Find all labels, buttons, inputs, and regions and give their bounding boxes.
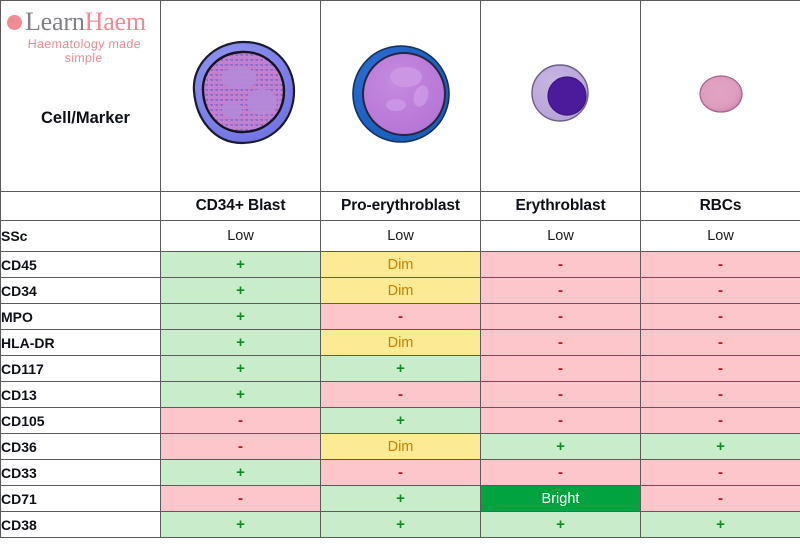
cell-cd45-erythroblast: -: [481, 252, 641, 278]
cell-cd34-cd34-blast: +: [161, 278, 321, 304]
cell-cd36-rbcs: +: [641, 434, 800, 460]
cell-cd105-cd34-blast: -: [161, 408, 321, 434]
table-row: CD38 + + + +: [1, 512, 800, 538]
cell-cd45-cd34-blast: +: [161, 252, 321, 278]
header-corner-blank: [1, 192, 161, 221]
page-title: Cell/Marker: [7, 65, 160, 186]
cell-cd38-erythroblast: +: [481, 512, 641, 538]
column-header-rbcs: RBCs: [641, 192, 800, 221]
cell-mpo-rbcs: -: [641, 304, 800, 330]
logo-and-title-cell: Learn Haem Haematology made simple Cell/…: [1, 1, 161, 192]
cell-cd71-erythroblast: Bright: [481, 486, 641, 512]
logo-tagline: Haematology made simple: [7, 37, 160, 65]
cell-image-rbcs: [641, 1, 800, 192]
row-label-cd71: CD71: [1, 486, 161, 512]
table-row: HLA-DR + Dim - -: [1, 330, 800, 356]
table-row: CD45 + Dim - -: [1, 252, 800, 278]
logo-text-haem: Haem: [85, 9, 146, 35]
cell-cd13-rbcs: -: [641, 382, 800, 408]
cell-cd34-pro-erythroblast: Dim: [321, 278, 481, 304]
cell-cd33-pro-erythroblast: -: [321, 460, 481, 486]
table-body: Learn Haem Haematology made simple Cell/…: [1, 1, 800, 538]
column-header-erythroblast: Erythroblast: [481, 192, 641, 221]
cell-cd105-pro-erythroblast: +: [321, 408, 481, 434]
table-row: CD36 - Dim + +: [1, 434, 800, 460]
cell-cd33-rbcs: -: [641, 460, 800, 486]
row-label-cd36: CD36: [1, 434, 161, 460]
cell-cd36-cd34-blast: -: [161, 434, 321, 460]
cell-image-cd34-blast: [161, 1, 321, 192]
cell-cd36-erythroblast: +: [481, 434, 641, 460]
column-header-row: CD34+ Blast Pro-erythroblast Erythroblas…: [1, 192, 800, 221]
cell-hla-dr-cd34-blast: +: [161, 330, 321, 356]
cell-hla-dr-erythroblast: -: [481, 330, 641, 356]
cell-cd38-cd34-blast: +: [161, 512, 321, 538]
table-row: MPO + - - -: [1, 304, 800, 330]
table-row: SSc Low Low Low Low: [1, 221, 800, 252]
cell-mpo-pro-erythroblast: -: [321, 304, 481, 330]
row-label-cd13: CD13: [1, 382, 161, 408]
cell-cd105-rbcs: -: [641, 408, 800, 434]
brand-dot-icon: [7, 15, 22, 30]
row-label-cd117: CD117: [1, 356, 161, 382]
cell-image-erythroblast: [481, 1, 641, 192]
cell-cd34-rbcs: -: [641, 278, 800, 304]
cell-cd13-erythroblast: -: [481, 382, 641, 408]
pro-erythroblast-cell-illustration: [342, 35, 460, 153]
cell-ssc-rbcs: Low: [641, 221, 800, 252]
row-label-cd105: CD105: [1, 408, 161, 434]
table-row: CD13 + - - -: [1, 382, 800, 408]
rbc-cell-illustration: [693, 70, 749, 118]
logo-wordmark: Learn Haem: [7, 9, 160, 35]
row-label-ssc: SSc: [1, 221, 161, 252]
cell-cd117-rbcs: -: [641, 356, 800, 382]
table-row: CD105 - + - -: [1, 408, 800, 434]
cell-cd71-pro-erythroblast: +: [321, 486, 481, 512]
cell-cd71-cd34-blast: -: [161, 486, 321, 512]
cell-hla-dr-rbcs: -: [641, 330, 800, 356]
row-label-cd34: CD34: [1, 278, 161, 304]
page-root: Learn Haem Haematology made simple Cell/…: [0, 0, 800, 551]
cell-cd36-pro-erythroblast: Dim: [321, 434, 481, 460]
cd34-blast-cell-illustration: [176, 29, 306, 159]
column-header-pro-erythroblast: Pro-erythroblast: [321, 192, 481, 221]
table-row: CD71 - + Bright -: [1, 486, 800, 512]
cell-ssc-erythroblast: Low: [481, 221, 641, 252]
cell-cd117-erythroblast: -: [481, 356, 641, 382]
table-row: CD34 + Dim - -: [1, 278, 800, 304]
erythroblast-cell-illustration: [526, 59, 596, 129]
row-label-cd33: CD33: [1, 460, 161, 486]
cell-cd13-pro-erythroblast: -: [321, 382, 481, 408]
cell-cd71-rbcs: -: [641, 486, 800, 512]
logo-text-learn: Learn: [25, 9, 85, 35]
cell-cd33-erythroblast: -: [481, 460, 641, 486]
cell-cd38-rbcs: +: [641, 512, 800, 538]
cell-cd38-pro-erythroblast: +: [321, 512, 481, 538]
table-row: CD117 + + - -: [1, 356, 800, 382]
cell-cd13-cd34-blast: +: [161, 382, 321, 408]
immunophenotype-table: Learn Haem Haematology made simple Cell/…: [0, 0, 800, 538]
row-label-hla-dr: HLA-DR: [1, 330, 161, 356]
cell-cd34-erythroblast: -: [481, 278, 641, 304]
cell-ssc-pro-erythroblast: Low: [321, 221, 481, 252]
column-header-cd34-blast: CD34+ Blast: [161, 192, 321, 221]
cell-cd33-cd34-blast: +: [161, 460, 321, 486]
cell-cd117-cd34-blast: +: [161, 356, 321, 382]
cell-mpo-cd34-blast: +: [161, 304, 321, 330]
row-label-cd38: CD38: [1, 512, 161, 538]
cell-cd105-erythroblast: -: [481, 408, 641, 434]
cell-cd45-pro-erythroblast: Dim: [321, 252, 481, 278]
cell-image-pro-erythroblast: [321, 1, 481, 192]
brand-logo[interactable]: Learn Haem Haematology made simple Cell/…: [1, 1, 160, 191]
illustration-row: Learn Haem Haematology made simple Cell/…: [1, 1, 800, 192]
row-label-cd45: CD45: [1, 252, 161, 278]
cell-ssc-cd34-blast: Low: [161, 221, 321, 252]
cell-cd117-pro-erythroblast: +: [321, 356, 481, 382]
row-label-mpo: MPO: [1, 304, 161, 330]
cell-mpo-erythroblast: -: [481, 304, 641, 330]
cell-cd45-rbcs: -: [641, 252, 800, 278]
cell-hla-dr-pro-erythroblast: Dim: [321, 330, 481, 356]
table-row: CD33 + - - -: [1, 460, 800, 486]
